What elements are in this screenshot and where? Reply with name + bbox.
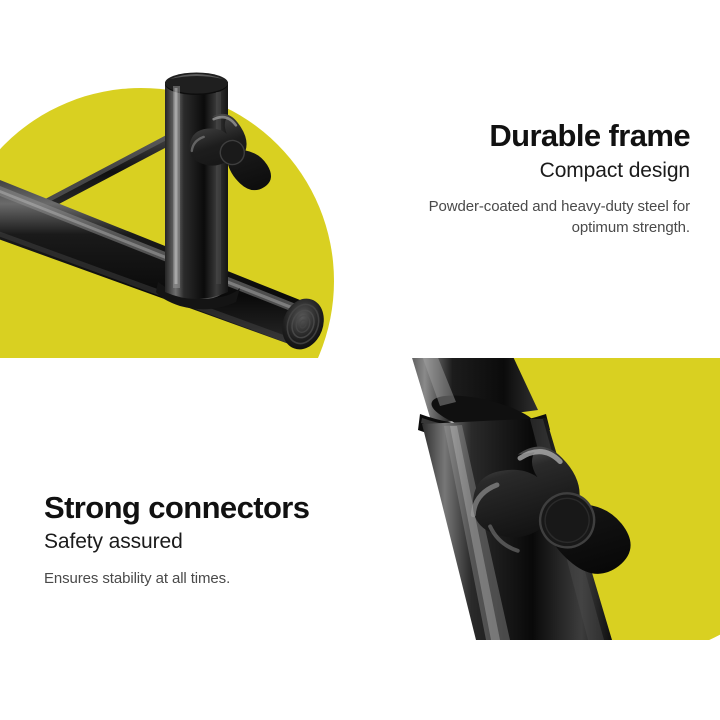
frame-joint-photo [0, 0, 358, 358]
connector-photo-panel [360, 358, 720, 640]
frame-text-panel: Durable frame Compact design Powder-coat… [360, 0, 720, 358]
connector-subhead: Safety assured [44, 530, 183, 554]
connector-knob-photo [360, 358, 720, 640]
connector-headline: Strong connectors [44, 491, 309, 526]
connector-text-panel: Strong connectors Safety assured Ensures… [0, 360, 360, 720]
feature-collage: Durable frame Compact design Powder-coat… [0, 0, 720, 720]
steel-tube-icon [0, 176, 318, 348]
frame-headline: Durable frame [489, 119, 690, 154]
vertical-post-icon [165, 73, 228, 300]
frame-body-text: Powder-coated and heavy-duty steel for o… [415, 196, 690, 240]
frame-subhead: Compact design [540, 159, 690, 183]
connector-body-text: Ensures stability at all times. [44, 568, 230, 590]
frame-photo-panel [0, 0, 358, 358]
